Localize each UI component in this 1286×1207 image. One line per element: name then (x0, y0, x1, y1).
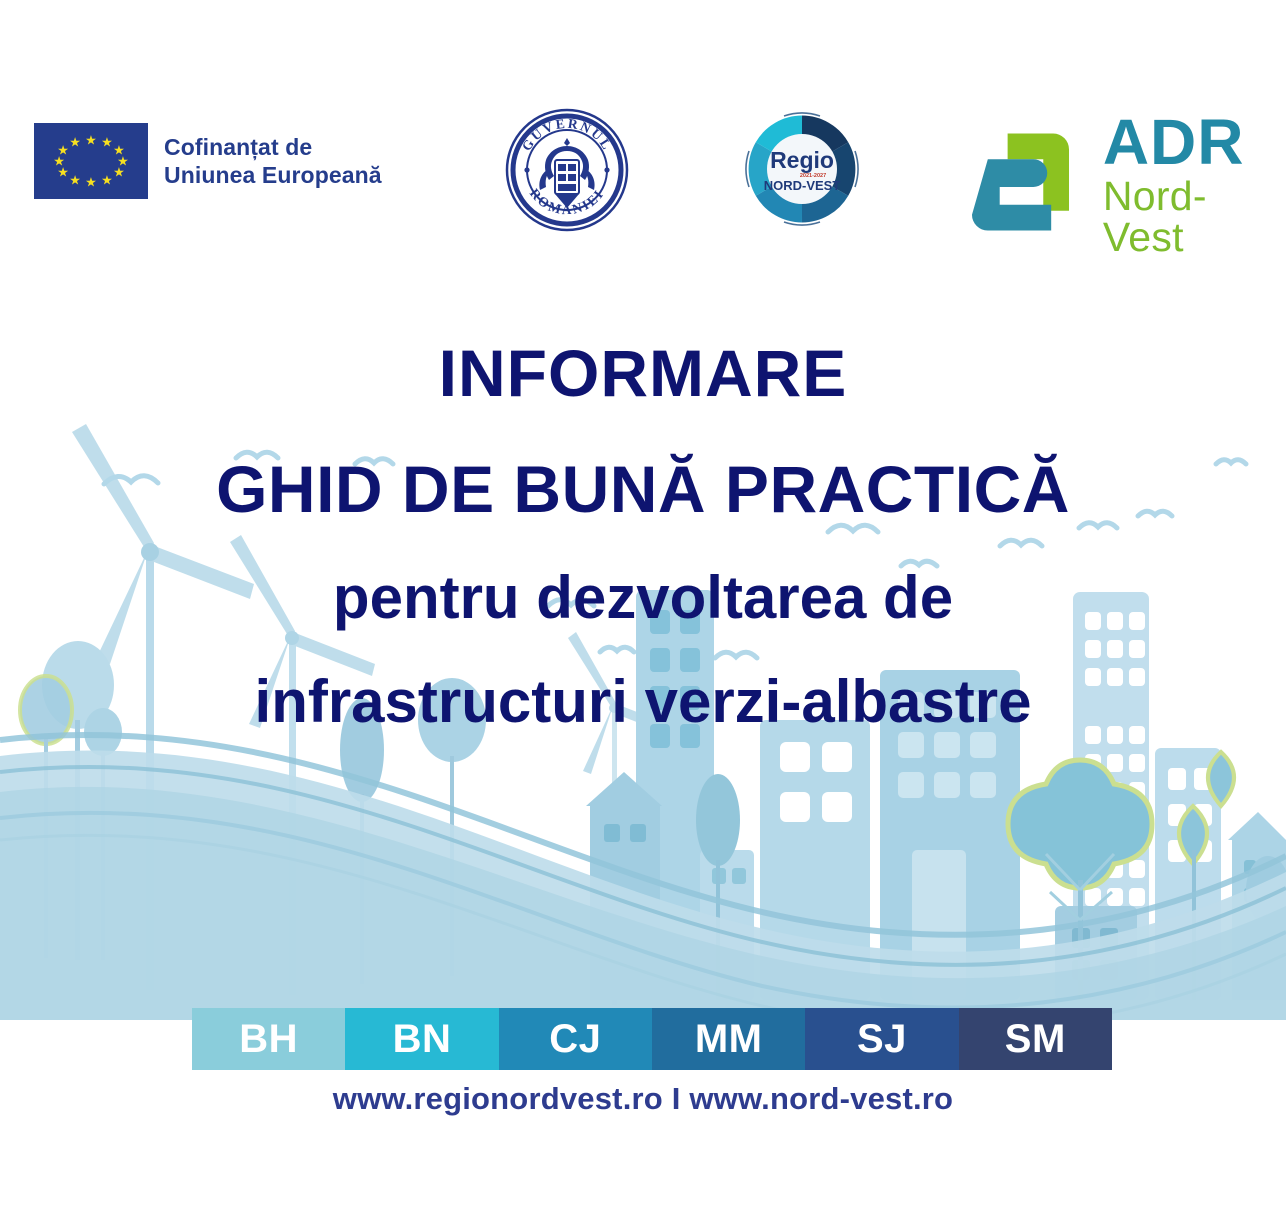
adr-main-label: ADR (1103, 110, 1286, 174)
poster-canvas: ★ ★ ★ ★ ★ ★ ★ ★ ★ ★ ★ ★ Cofinanțat de Un… (0, 0, 1286, 1207)
headline-line-3: pentru dezvoltarea de (0, 568, 1286, 628)
county-badge-sm: SM (959, 1008, 1112, 1070)
eu-cofinancing-label: Cofinanțat de Uniunea Europeană (164, 133, 382, 189)
gov-seal-icon: GUVERNUL ROMÂNIEI (505, 108, 629, 232)
eu-flag-icon: ★ ★ ★ ★ ★ ★ ★ ★ ★ ★ ★ ★ (34, 123, 148, 199)
guvernul-romaniei-seal: GUVERNUL ROMÂNIEI (505, 108, 629, 232)
footer-website-urls[interactable]: www.regionordvest.ro I www.nord-vest.ro (0, 1081, 1286, 1117)
regio-ring-icon: Regio 2021-2027 NORD-VEST (741, 110, 863, 228)
headline-line-4: infrastructuri verzi-albastre (0, 672, 1286, 732)
adr-mark-icon (970, 125, 1087, 243)
wave-band-group (0, 735, 1286, 1020)
svg-text:NORD-VEST: NORD-VEST (764, 178, 841, 193)
headline-line-2: GHID DE BUNĂ PRACTICĂ (0, 456, 1286, 522)
county-badge-bn: BN (345, 1008, 498, 1070)
headline-line-1: INFORMARE (0, 340, 1286, 406)
adr-sub-label: Nord-Vest (1103, 176, 1286, 258)
regio-nord-vest-logo: Regio 2021-2027 NORD-VEST (741, 110, 863, 228)
svg-text:Regio: Regio (770, 147, 834, 173)
county-badge-cj: CJ (499, 1008, 652, 1070)
county-code-bar: BH BN CJ MM SJ SM (192, 1008, 1112, 1070)
partner-logo-strip: ★ ★ ★ ★ ★ ★ ★ ★ ★ ★ ★ ★ Cofinanțat de Un… (0, 0, 1286, 260)
poster-headline: INFORMARE GHID DE BUNĂ PRACTICĂ pentru d… (0, 340, 1286, 732)
county-badge-mm: MM (652, 1008, 805, 1070)
adr-nord-vest-logo: ADR Nord-Vest (970, 110, 1286, 258)
county-badge-bh: BH (192, 1008, 345, 1070)
european-union-cofinancing-logo: ★ ★ ★ ★ ★ ★ ★ ★ ★ ★ ★ ★ Cofinanțat de Un… (34, 123, 382, 199)
county-badge-sj: SJ (805, 1008, 958, 1070)
